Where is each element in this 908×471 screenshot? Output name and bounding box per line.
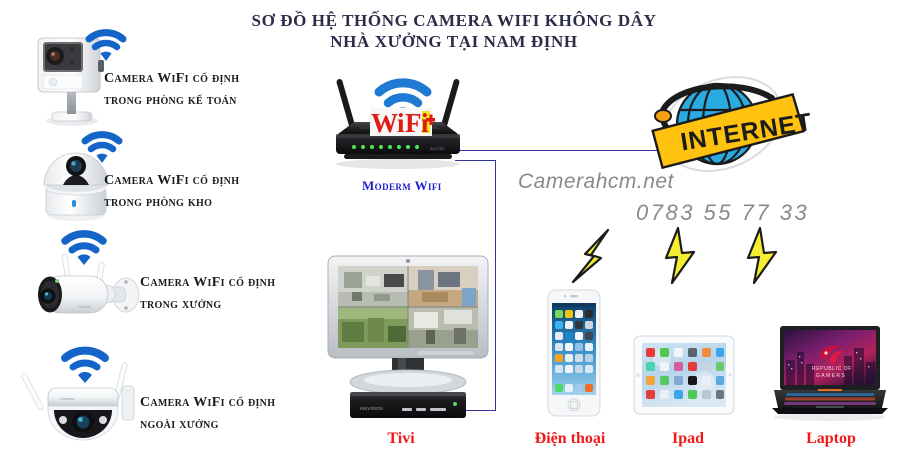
camera-1-label-line-1: Camera WiFi cố định xyxy=(104,68,239,90)
globe-icon: INTERNET xyxy=(622,72,812,174)
camera-1-label-line-2: trong phòng kế toán xyxy=(104,90,239,112)
camera-3-label-line-2: trong xưởng xyxy=(140,294,275,316)
network-diagram-canvas: SƠ ĐỒ HỆ THỐNG CAMERA WIFI KHÔNG DÂY NHÀ… xyxy=(0,0,908,471)
svg-text:W: W xyxy=(371,108,398,138)
camera-3-label-line-1: Camera WiFi cố định xyxy=(140,272,275,294)
smartphone[interactable] xyxy=(534,288,614,418)
svg-text:HiLook: HiLook xyxy=(78,304,90,309)
camera-3-label: Camera WiFi cố định trong xưởng xyxy=(140,272,275,316)
svg-text:HIKVISION: HIKVISION xyxy=(360,406,383,411)
tablet-icon xyxy=(632,334,736,418)
camera-4-label: Camera WiFi cố định ngoài xưởng xyxy=(140,392,275,436)
camera-1-label: Camera WiFi cố định trong phòng kế toán xyxy=(104,68,239,112)
website-text: Camerahcm.net xyxy=(518,170,674,194)
wifi-icon xyxy=(86,28,126,62)
svg-text:i: i xyxy=(421,108,429,138)
smartphone-icon xyxy=(534,288,614,418)
page-title: SƠ ĐỒ HỆ THỐNG CAMERA WIFI KHÔNG DÂY NHÀ… xyxy=(0,10,908,52)
camera-2-wifi-indicator xyxy=(82,130,122,164)
laptop[interactable]: REPUBLIC OF GAMERS xyxy=(772,322,888,422)
device-label-ipad: Ipad xyxy=(660,430,716,448)
camera-4-label-line-1: Camera WiFi cố định xyxy=(140,392,275,414)
lightning-bolt-icon xyxy=(568,228,614,286)
camera-4-wifi-indicator xyxy=(62,344,108,384)
device-label-tivi: Tivi xyxy=(371,430,431,448)
svg-text:Camera: Camera xyxy=(60,396,75,401)
page-title-line-2: NHÀ XƯỞNG TẠI NAM ĐỊNH xyxy=(0,31,908,52)
svg-text:AC1750: AC1750 xyxy=(430,146,445,151)
signal-bolt-1 xyxy=(568,228,614,286)
monitor-with-dvr[interactable]: HIKVISION xyxy=(322,252,494,420)
camera-2-label-line-1: Camera WiFi cố định xyxy=(104,170,239,192)
signal-bolt-3 xyxy=(742,226,786,286)
camera-2-label: Camera WiFi cố định trong phòng kho xyxy=(104,170,239,214)
laptop-icon: REPUBLIC OF GAMERS xyxy=(772,322,888,422)
monitor-dvr-icon: HIKVISION xyxy=(322,252,494,420)
camera-1-wifi-indicator xyxy=(86,28,126,62)
device-label-phone: Điện thoại xyxy=(515,430,625,448)
svg-text:i: i xyxy=(397,108,405,138)
device-label-laptop: Laptop xyxy=(786,430,876,448)
phone-number-text: 0783 55 77 33 xyxy=(636,200,809,226)
wifi-icon xyxy=(82,130,122,164)
svg-text:F: F xyxy=(405,108,422,138)
signal-bolt-2 xyxy=(660,226,704,286)
wifi-wordmark-icon: W i F i xyxy=(370,106,436,140)
page-title-line-1: SƠ ĐỒ HỆ THỐNG CAMERA WIFI KHÔNG DÂY xyxy=(252,11,657,30)
svg-text:REPUBLIC OF: REPUBLIC OF xyxy=(812,366,852,372)
wifi-icon xyxy=(62,344,108,384)
camera-2-label-line-2: trong phòng kho xyxy=(104,192,239,214)
connector-router-down xyxy=(495,160,496,410)
svg-text:GAMERS: GAMERS xyxy=(816,373,846,379)
router-label: Moderm Wifi xyxy=(362,178,442,194)
lightning-bolt-icon xyxy=(660,226,704,286)
router-wifi-logo: W i F i xyxy=(370,106,436,140)
internet-cloud[interactable]: INTERNET xyxy=(622,72,812,174)
tablet[interactable] xyxy=(632,334,736,418)
wifi-icon xyxy=(62,228,106,266)
lightning-bolt-icon xyxy=(742,226,786,286)
camera-4-label-line-2: ngoài xưởng xyxy=(140,414,275,436)
camera-3-wifi-indicator xyxy=(62,228,106,266)
